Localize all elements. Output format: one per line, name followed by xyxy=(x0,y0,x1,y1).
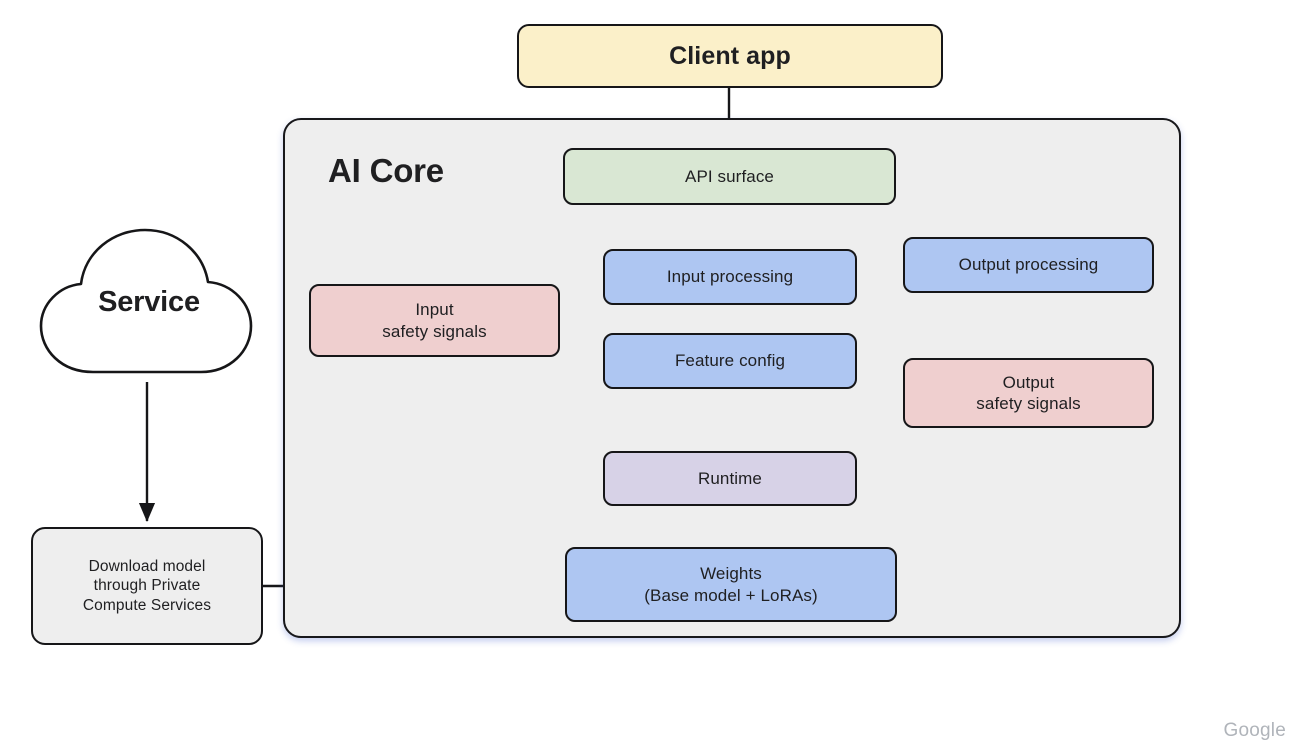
node-output-processing-label: Output processing xyxy=(959,254,1099,275)
node-input-safety-line2: safety signals xyxy=(382,321,486,342)
node-runtime[interactable]: Runtime xyxy=(603,451,857,506)
google-watermark: Google xyxy=(1224,720,1286,742)
node-output-processing[interactable]: Output processing xyxy=(903,237,1154,293)
node-output-safety-line1: Output xyxy=(976,372,1080,393)
node-download-model-line2: through Private xyxy=(83,576,211,595)
node-api-surface[interactable]: API surface xyxy=(563,148,896,205)
node-input-processing[interactable]: Input processing xyxy=(603,249,857,305)
node-api-surface-label: API surface xyxy=(685,166,774,187)
node-feature-config-label: Feature config xyxy=(675,350,785,371)
node-download-model[interactable]: Download model through Private Compute S… xyxy=(31,527,263,645)
diagram-canvas: AI Core xyxy=(0,0,1304,756)
node-client-app-label: Client app xyxy=(669,41,791,72)
node-input-safety-signals[interactable]: Input safety signals xyxy=(309,284,560,357)
node-weights[interactable]: Weights (Base model + LoRAs) xyxy=(565,547,897,622)
node-feature-config[interactable]: Feature config xyxy=(603,333,857,389)
node-runtime-label: Runtime xyxy=(698,468,762,489)
node-weights-line1: Weights xyxy=(644,563,818,584)
node-input-processing-label: Input processing xyxy=(667,266,793,287)
node-input-safety-line1: Input xyxy=(382,299,486,320)
node-client-app[interactable]: Client app xyxy=(517,24,943,88)
node-output-safety-line2: safety signals xyxy=(976,393,1080,414)
ai-core-title: AI Core xyxy=(328,152,444,190)
node-weights-line2: (Base model + LoRAs) xyxy=(644,585,818,606)
node-download-model-line1: Download model xyxy=(83,557,211,576)
service-cloud-label: Service xyxy=(35,222,263,382)
node-output-safety-signals[interactable]: Output safety signals xyxy=(903,358,1154,428)
node-download-model-line3: Compute Services xyxy=(83,596,211,615)
